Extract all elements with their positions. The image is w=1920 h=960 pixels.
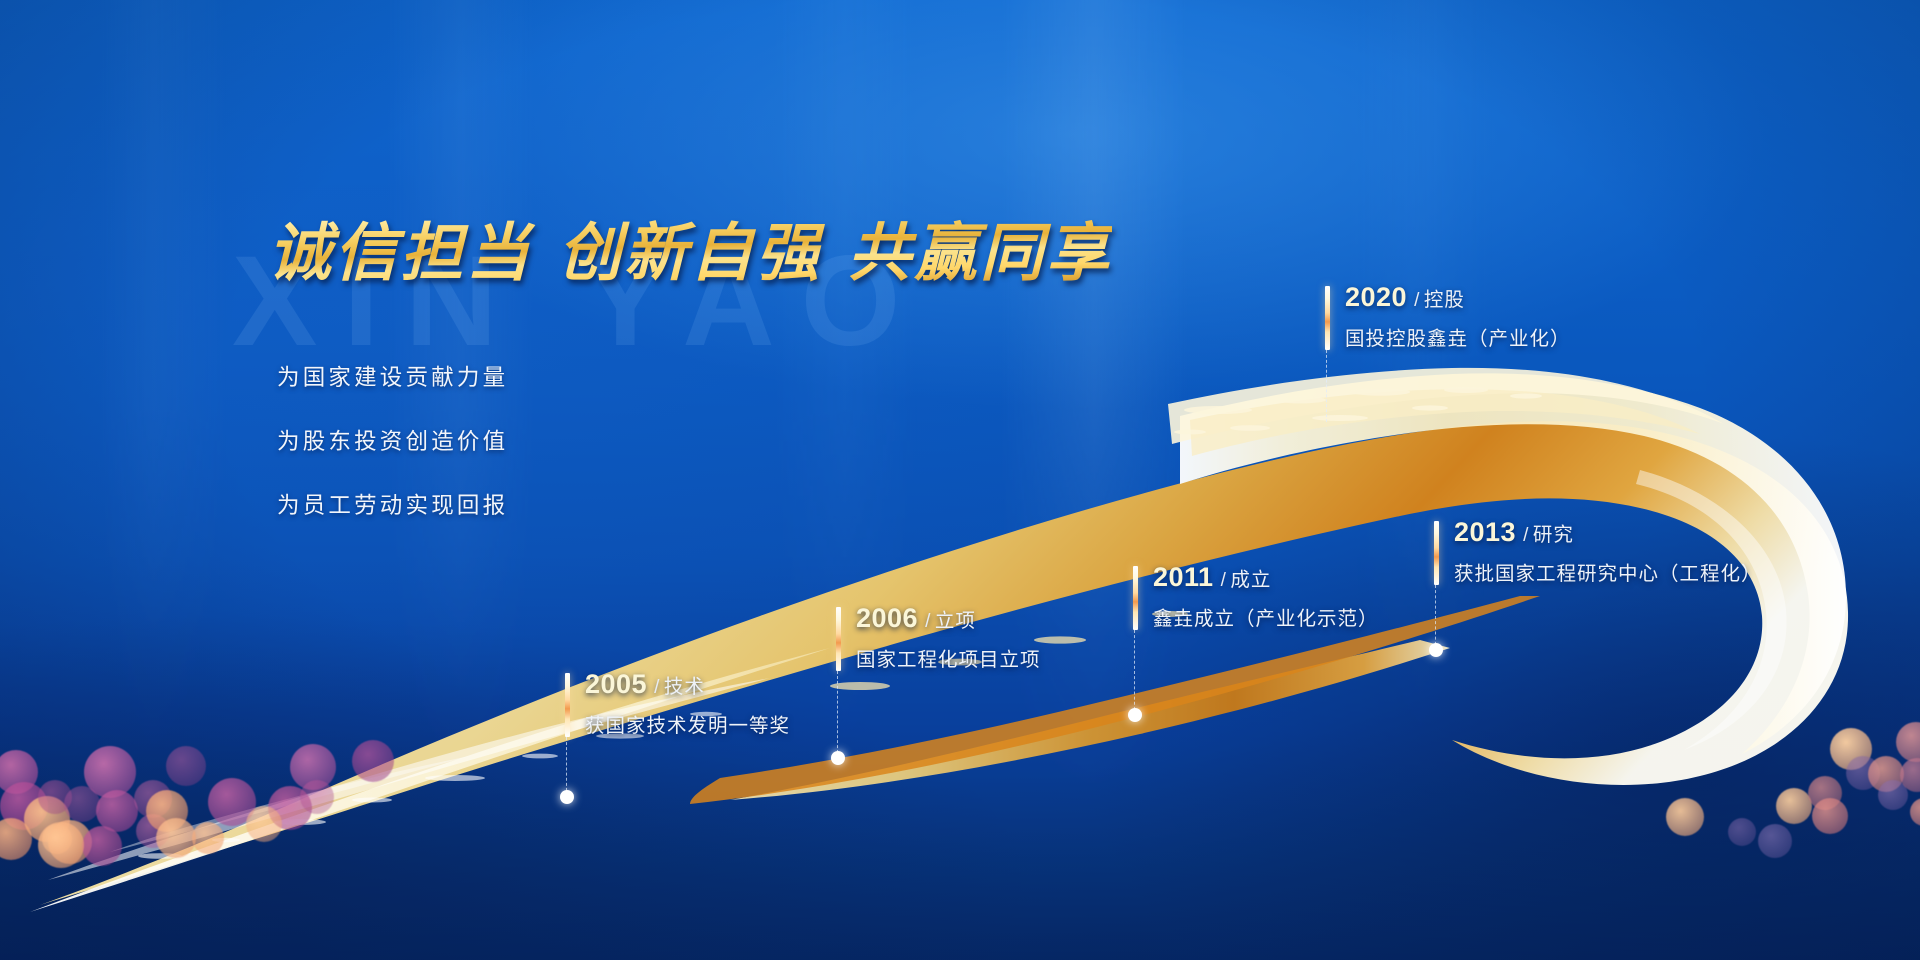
bokeh-circle: [82, 826, 122, 866]
bokeh-circle: [246, 806, 282, 842]
milestone-description: 获批国家工程研究中心（工程化）: [1454, 557, 1762, 586]
bokeh-circle: [1666, 798, 1704, 836]
headline-part-2: 创新自强: [558, 216, 822, 290]
milestone-separator: /: [1523, 525, 1529, 546]
milestone-separator: /: [925, 611, 931, 632]
bokeh-circle: [1758, 824, 1792, 858]
milestone-tag: 研究: [1533, 524, 1574, 546]
milestone-accent-bar: [1133, 566, 1138, 630]
bokeh-circle: [300, 780, 334, 814]
milestone-accent-bar: [1325, 286, 1330, 350]
bokeh-circle: [38, 822, 84, 868]
headline-part-1: 诚信担当: [268, 216, 532, 290]
bokeh-circle: [166, 746, 206, 786]
bokeh-circle: [1812, 798, 1848, 834]
milestone-tag: 立项: [935, 610, 976, 632]
milestone-separator: /: [654, 677, 660, 698]
bokeh-circle: [1776, 788, 1812, 824]
milestone-accent-bar: [1434, 521, 1439, 585]
milestone-description: 鑫垚成立（产业化示范）: [1153, 602, 1379, 631]
subtitle-line-2: 为股东投资创造价值: [277, 424, 508, 456]
milestone-year: 2020/控股: [1345, 282, 1465, 313]
milestone-marker-2013[interactable]: [1429, 643, 1443, 657]
milestone-year-value: 2005: [585, 669, 647, 699]
milestone-marker-2006[interactable]: [831, 751, 845, 765]
milestone-separator: /: [1221, 570, 1227, 591]
milestone-tag: 技术: [664, 676, 705, 698]
subtitle-line-1: 为国家建设贡献力量: [277, 360, 508, 392]
milestone-accent-bar: [836, 607, 841, 671]
milestone-connector-2013: [1435, 585, 1436, 650]
milestone-year-value: 2020: [1345, 282, 1407, 312]
milestone-connector-2006: [837, 671, 838, 758]
subtitle-line-3: 为员工劳动实现回报: [277, 488, 508, 520]
bokeh-circle: [64, 786, 100, 822]
milestone-description: 获国家技术发明一等奖: [585, 709, 790, 738]
milestone-connector-2020: [1326, 350, 1327, 422]
milestone-year-value: 2011: [1153, 562, 1214, 592]
subtitle-list: 为国家建设贡献力量 为股东投资创造价值 为员工劳动实现回报: [277, 360, 508, 552]
banner-canvas: XIN YAO 诚信担当创新自强共赢同享 为国家建设贡献力量 为股东投资创造价值…: [0, 0, 1920, 960]
milestone-connector-2011: [1134, 630, 1135, 715]
bokeh-circle: [156, 818, 196, 858]
milestone-connector-2005: [566, 737, 567, 796]
milestone-marker-2011[interactable]: [1128, 708, 1142, 722]
milestone-year-value: 2006: [856, 603, 918, 633]
milestone-description: 国投控股鑫垚（产业化）: [1345, 322, 1571, 351]
milestone-tag: 控股: [1424, 289, 1465, 311]
milestone-separator: /: [1414, 290, 1420, 311]
milestone-year: 2006/立项: [856, 603, 976, 634]
milestone-year: 2013/研究: [1454, 517, 1574, 548]
milestone-tag: 成立: [1230, 569, 1271, 591]
milestone-year-value: 2013: [1454, 517, 1516, 547]
bokeh-circle: [352, 740, 394, 782]
bokeh-circle: [192, 822, 224, 854]
milestone-accent-bar: [565, 673, 570, 737]
bokeh-circle: [1728, 818, 1756, 846]
headline-part-3: 共赢同享: [848, 216, 1112, 290]
milestone-marker-2005[interactable]: [560, 790, 574, 804]
page-title: 诚信担当创新自强共赢同享: [268, 203, 1112, 294]
milestone-year: 2011/成立: [1153, 562, 1271, 593]
milestone-description: 国家工程化项目立项: [856, 643, 1041, 672]
milestone-year: 2005/技术: [585, 669, 705, 700]
